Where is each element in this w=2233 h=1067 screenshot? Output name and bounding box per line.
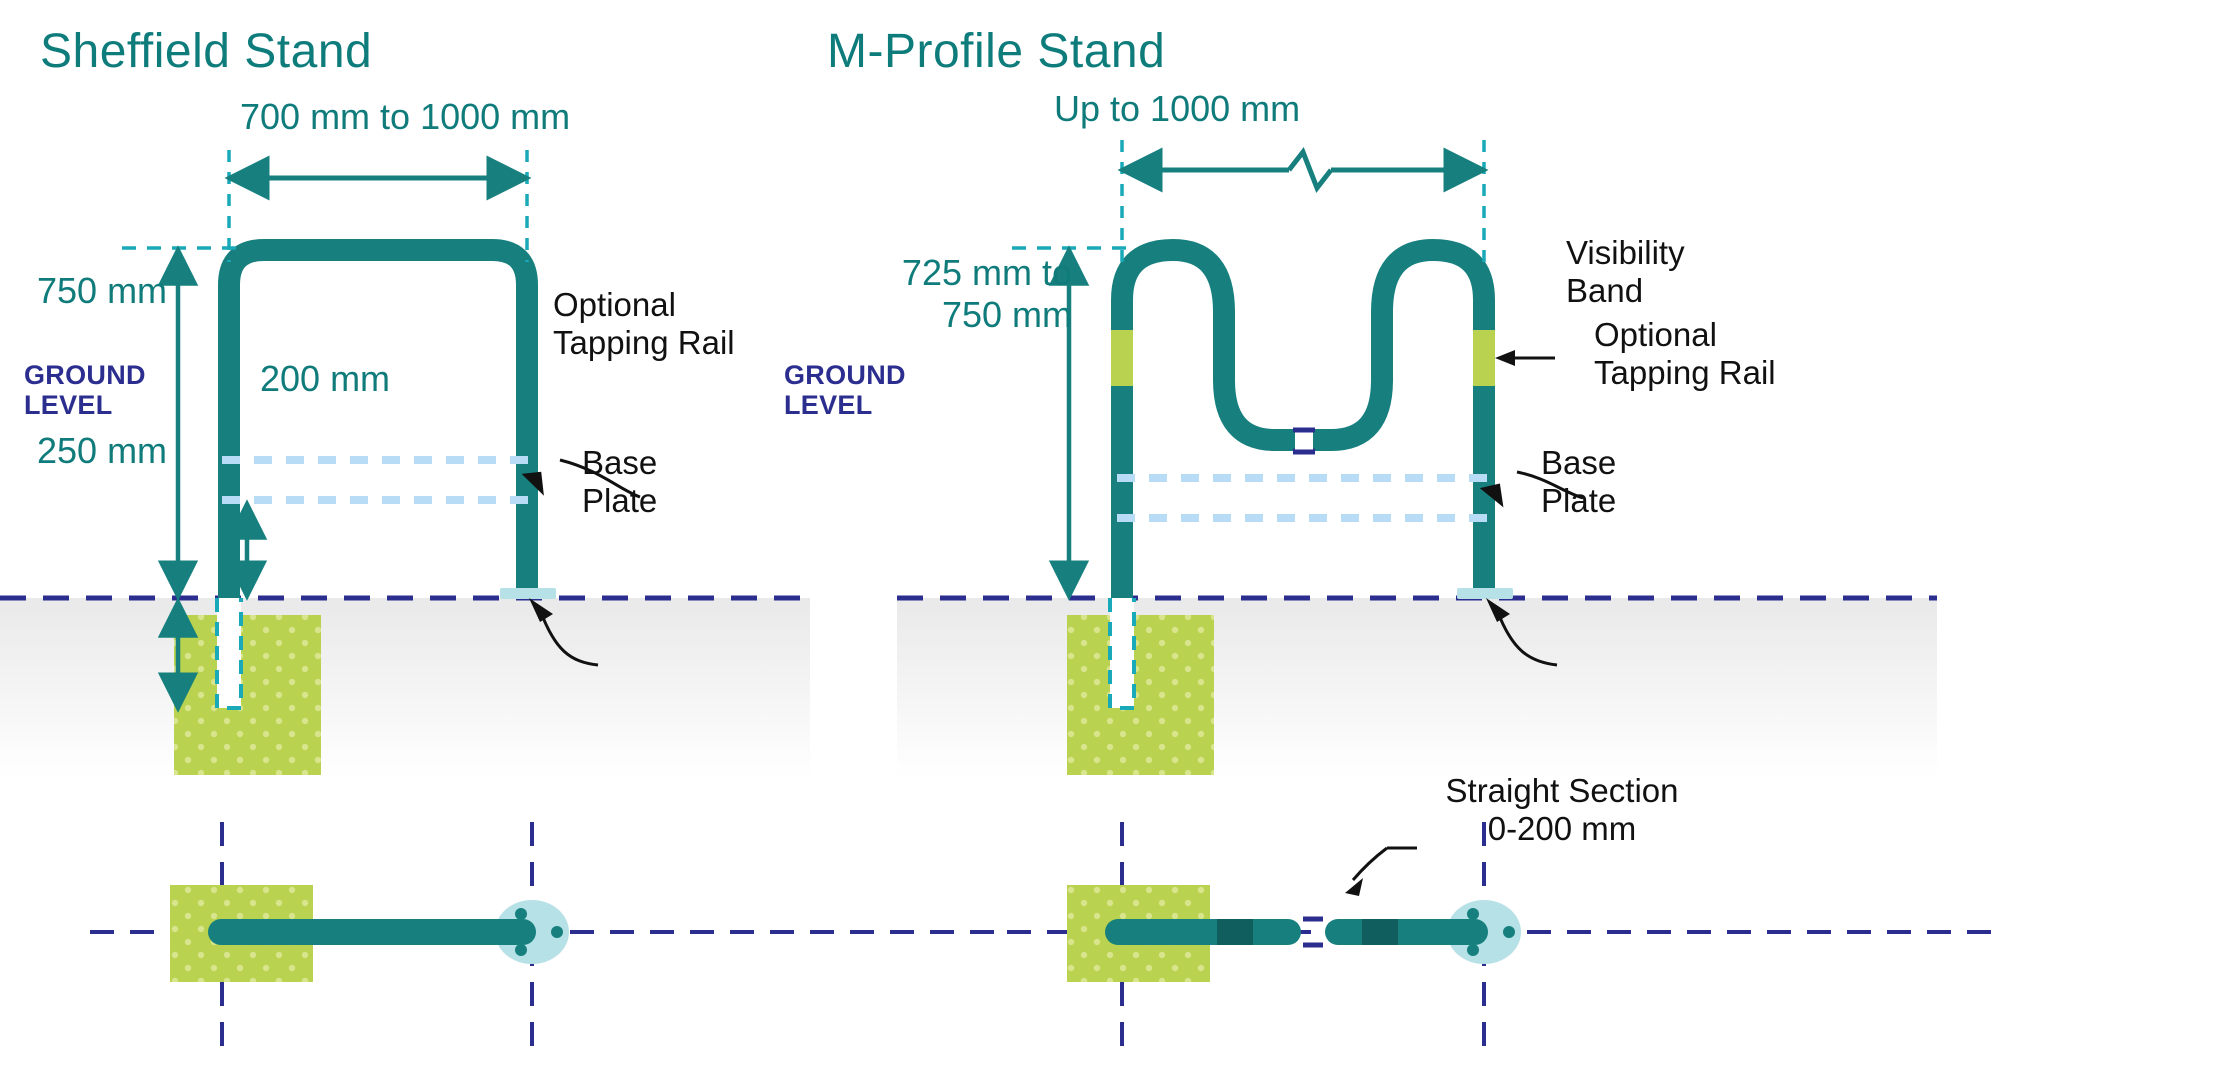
panel-m-profile: M-Profile Stand bbox=[1117, 0, 2233, 1067]
plan-bolt-hole-2 bbox=[1467, 944, 1479, 956]
m-profile-tube bbox=[1122, 250, 1484, 598]
base-plate-shape bbox=[1457, 588, 1513, 599]
plan-bolt-hole-1 bbox=[515, 908, 527, 920]
callout-optional-tapping-rail: Optional Tapping Rail bbox=[553, 286, 735, 363]
visibility-band-right bbox=[1473, 330, 1495, 386]
buried-leg-void bbox=[1110, 598, 1134, 708]
plan-tube-right bbox=[1325, 919, 1488, 945]
callout-optional-tapping-rail: Optional Tapping Rail bbox=[1594, 316, 1776, 393]
ground-fill bbox=[0, 598, 810, 778]
plan-bolt-hole-3 bbox=[551, 926, 563, 938]
straight-section-leader bbox=[1353, 848, 1387, 880]
ground-fill bbox=[897, 598, 1937, 778]
width-dimension-label: 700 mm to 1000 mm bbox=[240, 96, 570, 138]
ground-level-line-2: LEVEL bbox=[784, 390, 906, 420]
callout-line-1: Base bbox=[1541, 444, 1616, 482]
visibility-band-left bbox=[1111, 330, 1133, 386]
width-dimension-arrow bbox=[1125, 152, 1481, 188]
plan-straight-section-left bbox=[1217, 919, 1253, 945]
callout-base-plate: Base Plate bbox=[1541, 444, 1616, 521]
visibility-band-leader-arrowhead bbox=[1495, 350, 1515, 366]
callout-line-2: Plate bbox=[1541, 482, 1616, 520]
plan-tube bbox=[208, 919, 536, 945]
plan-tube-left bbox=[1105, 919, 1301, 945]
height-dimension-line-2: 750 mm bbox=[787, 294, 1072, 336]
callout-line-1: Optional bbox=[553, 286, 735, 324]
plan-bolt-hole-2 bbox=[515, 944, 527, 956]
callout-line-1: Base bbox=[582, 444, 657, 482]
callout-line-2: Band bbox=[1566, 272, 1685, 310]
m-profile-drawing bbox=[1117, 0, 2233, 1067]
tapping-rail-dimension-label: 200 mm bbox=[260, 358, 390, 400]
diagram-canvas: Sheffield Stand bbox=[0, 0, 2233, 1067]
callout-straight-section: Straight Section 0-200 mm bbox=[1412, 772, 1712, 849]
base-plate-shape bbox=[500, 588, 556, 599]
ground-level-line-1: GROUND bbox=[24, 360, 146, 390]
callout-line-1: Optional bbox=[1594, 316, 1776, 354]
callout-line-1: Visibility bbox=[1566, 234, 1685, 272]
callout-base-plate: Base Plate bbox=[582, 444, 657, 521]
height-dimension-label: 750 mm bbox=[37, 270, 167, 312]
page-title-m-profile: M-Profile Stand bbox=[827, 24, 1165, 79]
ground-level-label: GROUND LEVEL bbox=[784, 360, 906, 420]
ground-level-line-1: GROUND bbox=[784, 360, 906, 390]
callout-line-1: Straight Section bbox=[1412, 772, 1712, 810]
sheffield-drawing bbox=[0, 0, 1116, 1067]
ground-level-line-2: LEVEL bbox=[24, 390, 146, 420]
buried-leg-void bbox=[217, 598, 241, 708]
callout-line-2: Plate bbox=[582, 482, 657, 520]
foundation-block bbox=[1067, 615, 1214, 775]
width-dimension-label: Up to 1000 mm bbox=[1054, 88, 1300, 130]
callout-line-2: Tapping Rail bbox=[553, 324, 735, 362]
centre-break-gap bbox=[1295, 430, 1313, 452]
height-dimension-line-1: 725 mm to bbox=[787, 252, 1072, 294]
plan-bolt-hole-1 bbox=[1467, 908, 1479, 920]
plan-straight-section-right bbox=[1362, 919, 1398, 945]
ground-level-label: GROUND LEVEL bbox=[24, 360, 146, 420]
callout-line-2: 0-200 mm bbox=[1412, 810, 1712, 848]
depth-dimension-label: 250 mm bbox=[37, 430, 167, 472]
plan-bolt-hole-3 bbox=[1503, 926, 1515, 938]
callout-visibility-band: Visibility Band bbox=[1566, 234, 1685, 311]
sheffield-hoop bbox=[229, 250, 527, 598]
height-dimension-label: 725 mm to 750 mm bbox=[787, 252, 1072, 336]
foundation-block bbox=[174, 615, 321, 775]
callout-line-2: Tapping Rail bbox=[1594, 354, 1776, 392]
panel-sheffield: Sheffield Stand bbox=[0, 0, 1116, 1067]
